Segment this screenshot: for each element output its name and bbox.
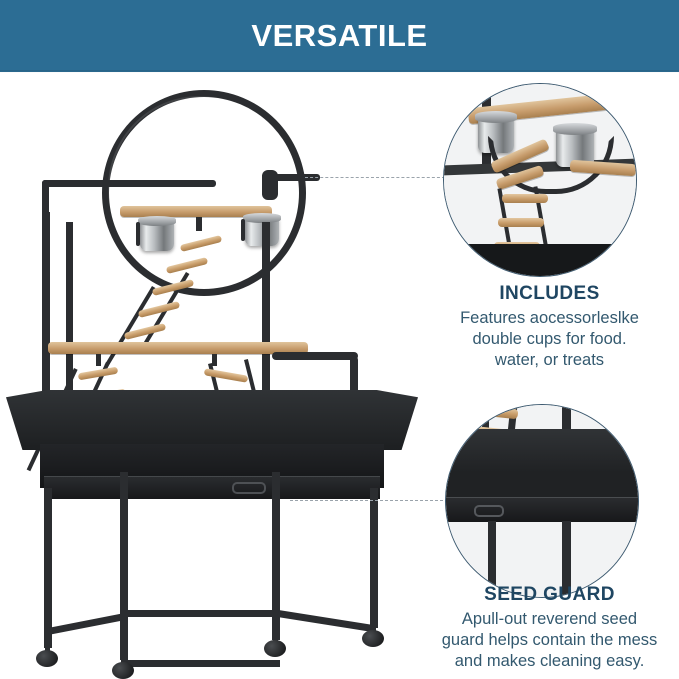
callout-circle-seed-guard <box>445 404 639 598</box>
callout-text-includes: INCLUDES Features aocessorleslke double … <box>420 283 679 371</box>
callout-body-line: and makes cleaning easy. <box>420 651 679 672</box>
detail-seed-guard-handle[interactable] <box>474 505 504 517</box>
stand-rail-right <box>277 610 373 632</box>
dashed-connector-bottom <box>290 500 448 501</box>
tray-top-panel <box>6 390 418 450</box>
steel-cup-left-rim <box>138 216 176 226</box>
callout-text-seed-guard: SEED GUARD Apull-out reverend seed guard… <box>420 584 679 672</box>
middle-perch-bracket-left <box>96 354 101 366</box>
seed-guard-drawer[interactable] <box>44 476 380 499</box>
callout-circle-includes <box>443 83 637 277</box>
callout-heading-includes: INCLUDES <box>420 283 679 305</box>
callout-heading-seed-guard: SEED GUARD <box>420 584 679 606</box>
caster-wheel-back-left[interactable] <box>112 662 134 679</box>
caster-wheel-front-right[interactable] <box>362 630 384 647</box>
middle-wood-perch <box>48 342 308 354</box>
steel-cup-right-holder <box>241 219 245 241</box>
hoop-right-connector <box>262 170 278 200</box>
callout-body-line: Features aocessorleslke <box>420 308 679 329</box>
callout-body-line: double cups for food. <box>420 329 679 350</box>
steel-cup-left-holder <box>136 222 140 246</box>
seed-guard-handle[interactable] <box>232 482 266 494</box>
detail-tray-top <box>445 429 639 475</box>
header-banner: VERSATILE <box>0 0 679 72</box>
detail-ladder-rung <box>502 194 548 203</box>
callout-body-line: Apull-out reverend seed <box>420 609 679 630</box>
page-title: VERSATILE <box>0 0 679 72</box>
upper-perch-bracket <box>196 217 202 231</box>
leg-front-left <box>44 488 52 648</box>
leg-front-right <box>370 488 378 628</box>
detail-steel-cup-left-rim <box>475 111 517 123</box>
stand-rail-front <box>122 610 278 617</box>
detail-tray <box>443 244 637 277</box>
stand-rail-bottom <box>122 660 280 667</box>
callout-body-line: water, or treats <box>420 350 679 371</box>
detail-steel-cup-right-rim <box>553 123 597 135</box>
caster-wheel-front-left[interactable] <box>36 650 58 667</box>
lower-right-ladder-rung <box>204 368 249 383</box>
left-arm-horizontal <box>42 180 216 187</box>
stand-rail-left <box>47 613 127 635</box>
product-illustration <box>0 72 428 670</box>
caster-wheel-back-right[interactable] <box>264 640 286 657</box>
callout-body-line: guard helps contain the mess <box>420 630 679 651</box>
dashed-connector-top <box>305 177 445 178</box>
detail-ladder-rung <box>498 218 544 227</box>
right-curved-arm <box>272 352 358 360</box>
middle-perch-bracket-right <box>212 354 217 366</box>
leg-back-left <box>120 472 128 660</box>
